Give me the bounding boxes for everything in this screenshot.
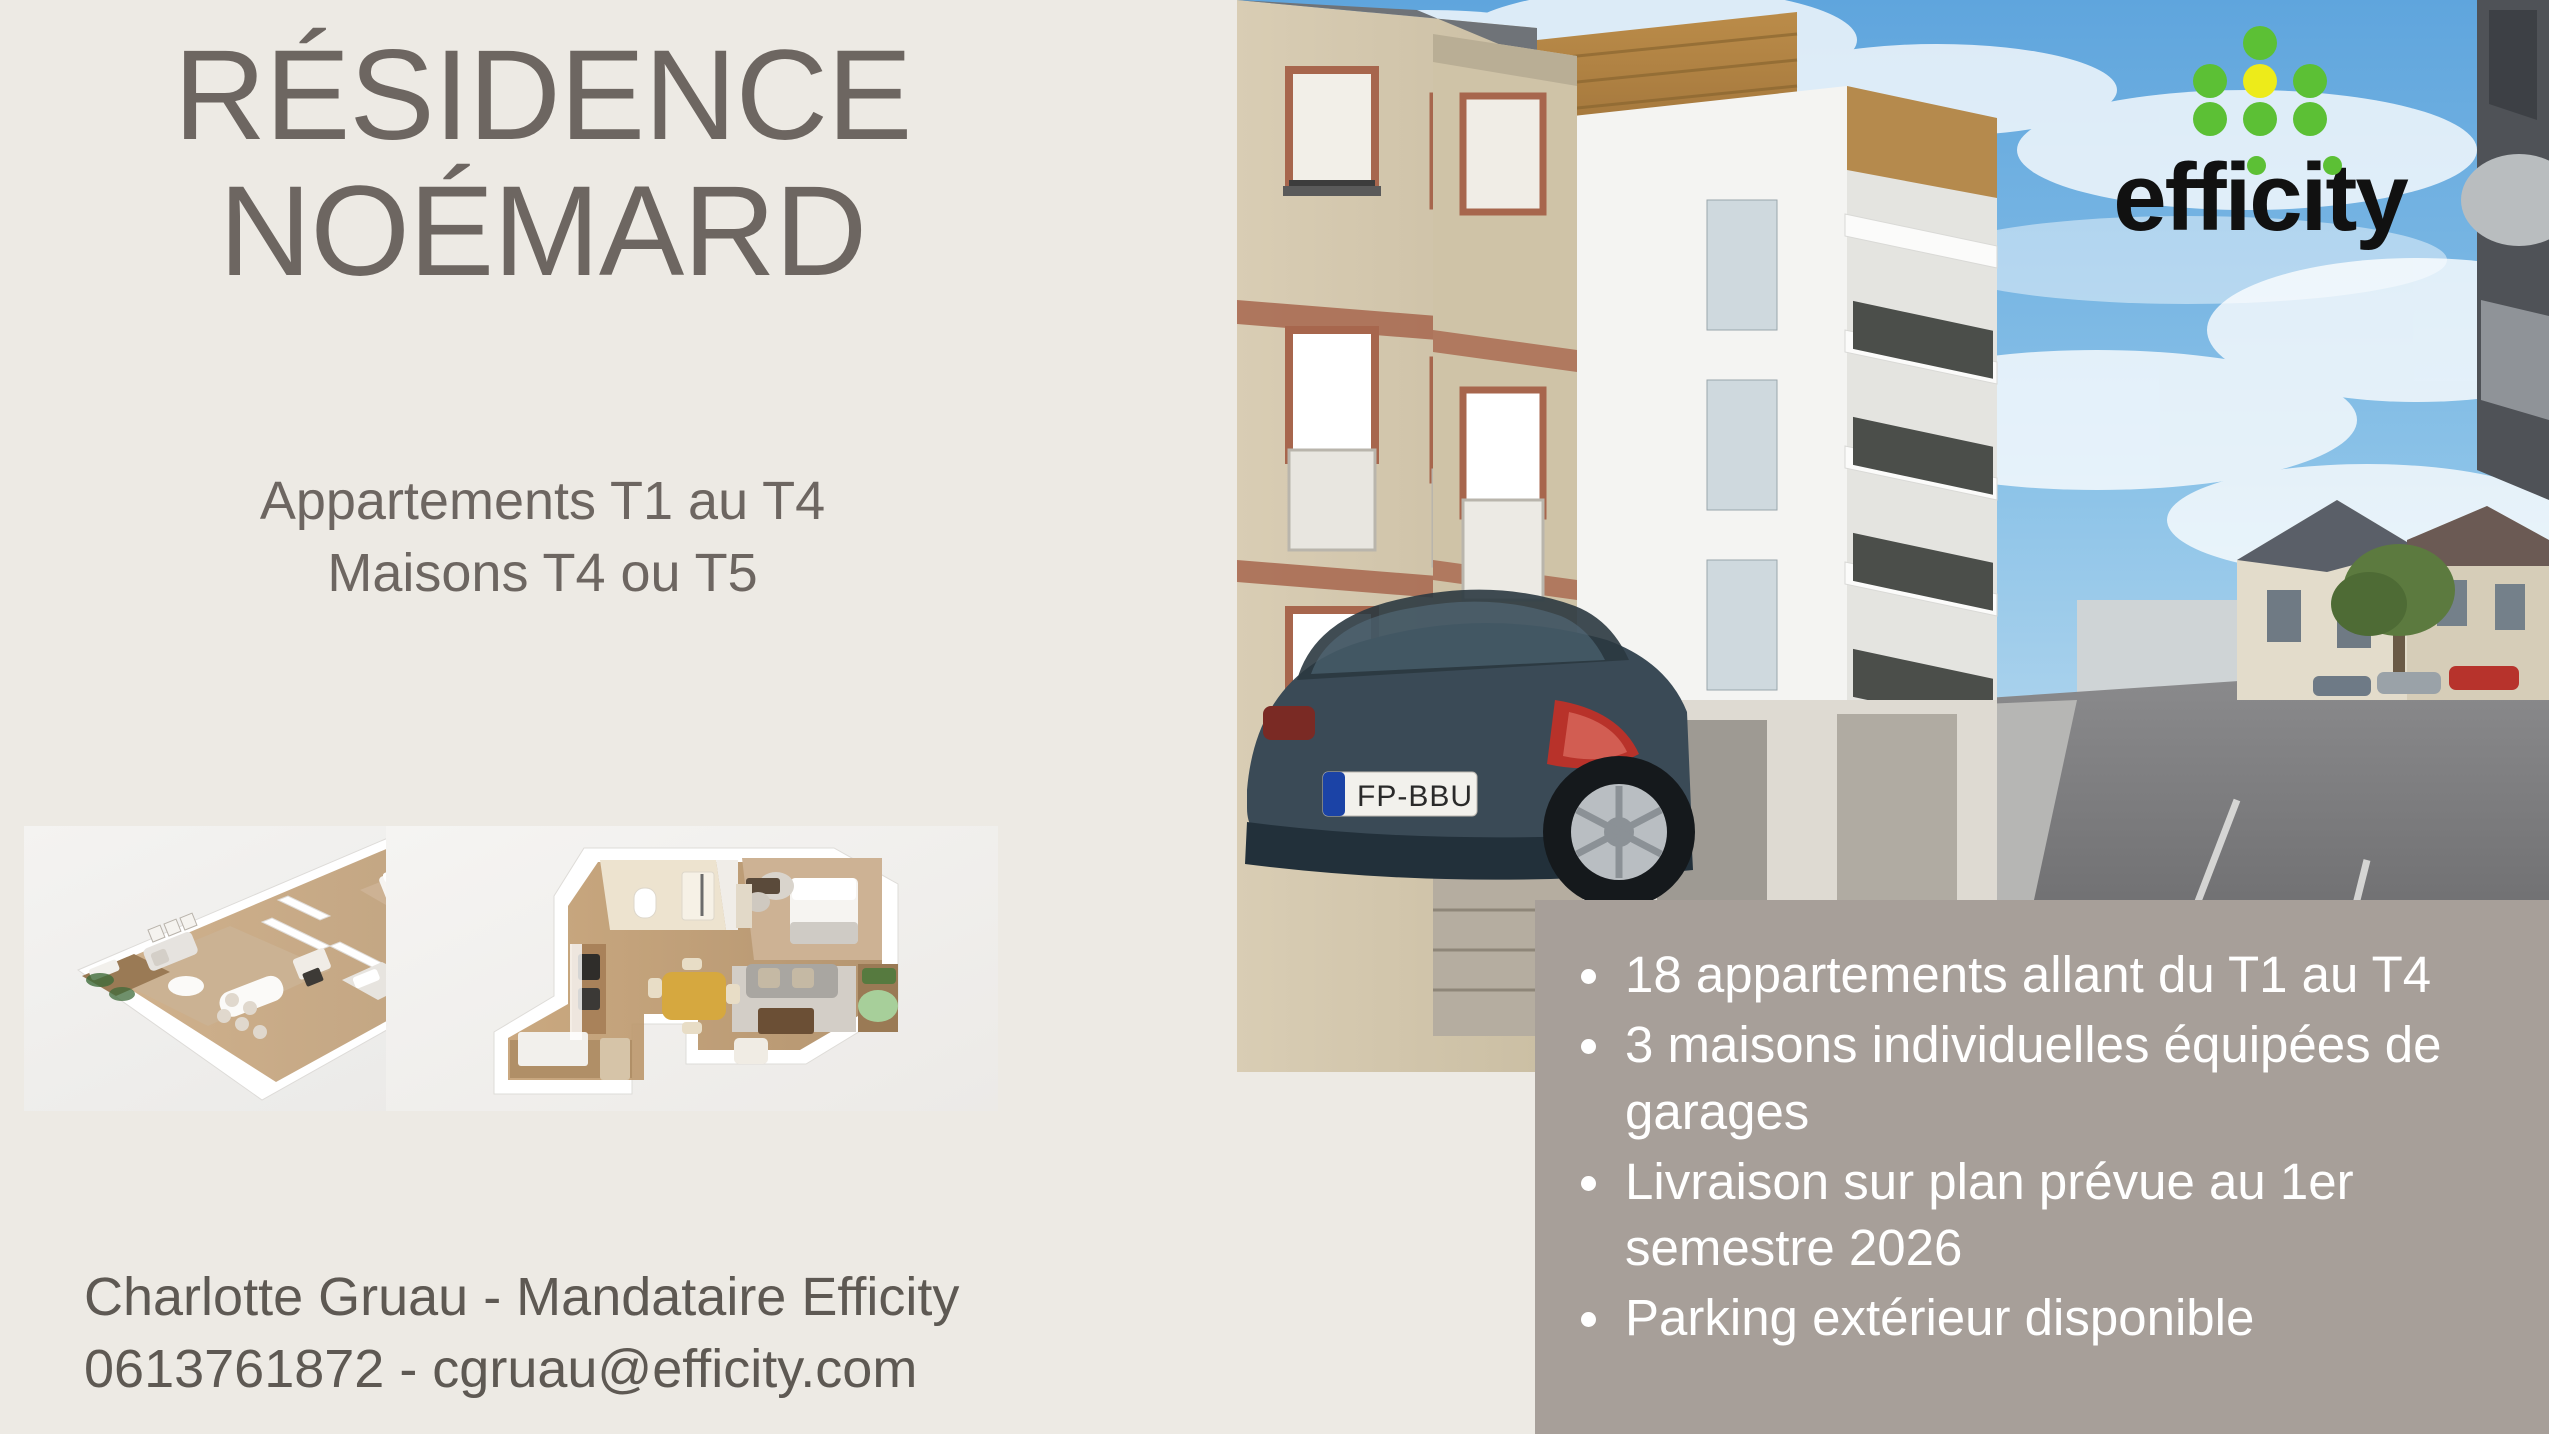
logo-dot-bottom-center bbox=[2243, 102, 2277, 136]
feature-text-4: Parking extérieur disponible bbox=[1625, 1289, 2254, 1346]
feature-text-1: 18 appartements allant du T1 au T4 bbox=[1625, 946, 2431, 1003]
logo-dot-middle-center-yellow bbox=[2243, 64, 2277, 98]
subtitle-line-2: Maisons T4 ou T5 bbox=[0, 538, 1085, 610]
contact-phone-email: 0613761872 - cgruau@efficity.com bbox=[84, 1334, 1084, 1406]
features-panel: 18 appartements allant du T1 au T4 3 mai… bbox=[1535, 900, 2549, 1434]
title-line-2: NOÉMARD bbox=[0, 164, 1085, 300]
wordmark-i-dot-1 bbox=[2247, 156, 2266, 175]
subtitle: Appartements T1 au T4 Maisons T4 ou T5 bbox=[0, 466, 1085, 610]
logo-dot-bottom-left bbox=[2193, 102, 2227, 136]
logo-dot-middle-right bbox=[2293, 64, 2327, 98]
floor-plan-thumbnail-2 bbox=[386, 826, 998, 1111]
contact-block: Charlotte Gruau - Mandataire Efficity 06… bbox=[84, 1262, 1084, 1406]
feature-item-1: 18 appartements allant du T1 au T4 bbox=[1571, 942, 2519, 1008]
logo-dot-middle-left bbox=[2193, 64, 2227, 98]
features-list: 18 appartements allant du T1 au T4 3 mai… bbox=[1571, 942, 2519, 1352]
feature-item-2: 3 maisons individuelles équipées de gara… bbox=[1571, 1012, 2519, 1145]
floor-plan-gallery bbox=[24, 826, 1224, 1111]
feature-item-3: Livraison sur plan prévue au 1er semestr… bbox=[1571, 1149, 2519, 1282]
title-line-1: RÉSIDENCE bbox=[0, 28, 1085, 164]
bullet-icon bbox=[1581, 1039, 1596, 1054]
feature-item-4: Parking extérieur disponible bbox=[1571, 1285, 2519, 1351]
feature-text-3: Livraison sur plan prévue au 1er semestr… bbox=[1625, 1153, 2354, 1276]
wordmark-i-dot-2 bbox=[2323, 156, 2342, 175]
page-title: RÉSIDENCE NOÉMARD bbox=[0, 28, 1085, 299]
feature-text-2: 3 maisons individuelles équipées de gara… bbox=[1625, 1016, 2442, 1139]
efficity-logo: efficity bbox=[2080, 26, 2440, 226]
efficity-wordmark: efficity bbox=[2080, 150, 2440, 256]
svg-text:FP-BBU: FP-BBU bbox=[1357, 780, 1473, 813]
logo-dot-top bbox=[2243, 26, 2277, 60]
bullet-icon bbox=[1581, 1312, 1596, 1327]
logo-dot-bottom-right bbox=[2293, 102, 2327, 136]
subtitle-line-1: Appartements T1 au T4 bbox=[0, 466, 1085, 538]
bullet-icon bbox=[1581, 969, 1596, 984]
floor-plan-image-2 bbox=[386, 826, 998, 1111]
efficity-logo-mark bbox=[2180, 26, 2340, 134]
bullet-icon bbox=[1581, 1176, 1596, 1191]
contact-name: Charlotte Gruau - Mandataire Efficity bbox=[84, 1262, 1084, 1334]
poster-root: RÉSIDENCE NOÉMARD Appartements T1 au T4 … bbox=[0, 0, 2549, 1434]
